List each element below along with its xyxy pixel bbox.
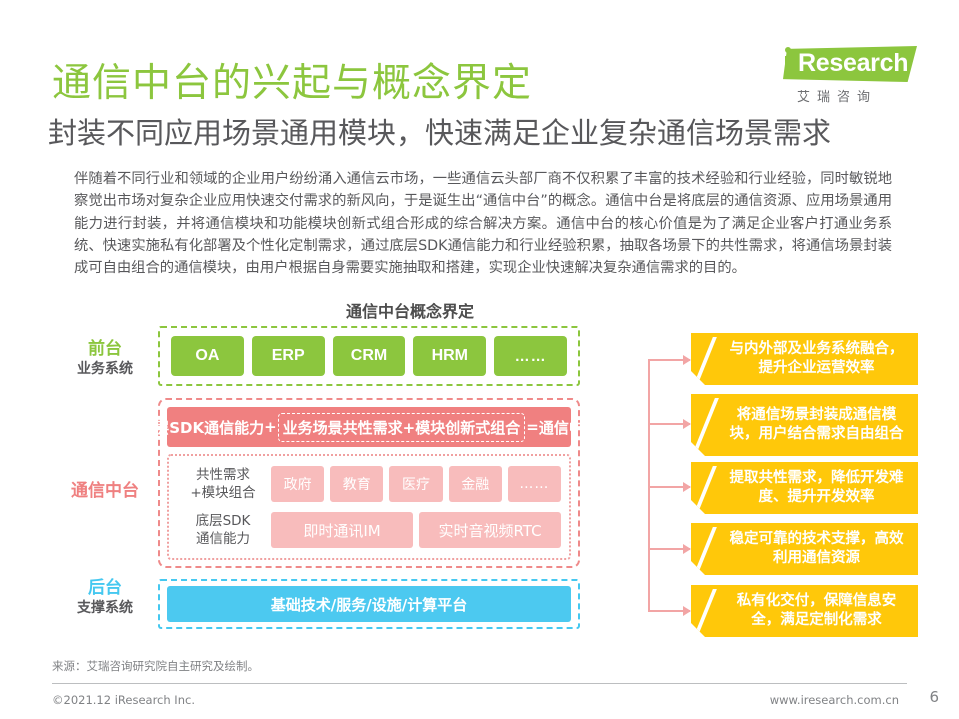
callout-slash-icon — [695, 337, 717, 381]
chip-front-more[interactable]: …… — [494, 336, 567, 376]
page-title: 通信中台的兴起与概念界定 — [52, 52, 532, 108]
copyright-text: ©2021.12 iResearch Inc. — [52, 693, 195, 707]
mid-row-common-needs: 共性需求+模块组合 政府 教育 医疗 金融 …… — [175, 462, 561, 506]
diagram-title: 通信中台概念界定 — [0, 298, 820, 322]
stage-back-sub: 支撑系统 — [60, 599, 150, 618]
arrow-to-callout-5 — [648, 610, 690, 612]
formula-part1: 底层SDK通信能力 — [139, 417, 264, 438]
arrow-to-callout-1 — [648, 359, 690, 361]
callout-4-text: 稳定可靠的技术支撑，高效利用通信资源 — [725, 530, 908, 568]
chip-oa[interactable]: OA — [171, 336, 244, 376]
logo-mark: Research — [767, 44, 917, 84]
chip-education[interactable]: 教育 — [330, 466, 383, 502]
chip-erp[interactable]: ERP — [252, 336, 325, 376]
page-subtitle: 封装不同应用场景通用模块，快速满足企业复杂通信场景需求 — [48, 110, 831, 152]
callout-slash-icon — [695, 527, 717, 571]
callout-5[interactable]: 私有化交付，保障信息安全，满足定制化需求 — [691, 585, 918, 637]
page-number: 6 — [929, 688, 939, 706]
callout-slash-icon — [695, 466, 717, 510]
stage-label-middle: 通信中台 — [60, 481, 150, 502]
callout-3-text: 提取共性需求，降低开发难度、提升开发效率 — [725, 469, 908, 507]
mid-row-sdk: 底层SDK通信能力 即时通讯IM 实时音视频RTC — [175, 508, 561, 552]
footer-divider — [52, 683, 907, 684]
chip-infrastructure[interactable]: 基础技术/服务/设施/计算平台 — [167, 586, 571, 622]
callout-3[interactable]: 提取共性需求，降低开发难度、提升开发效率 — [691, 462, 918, 514]
stage-label-back: 后台 支撑系统 — [60, 578, 150, 618]
connector-spine — [648, 359, 650, 611]
chip-finance[interactable]: 金融 — [449, 466, 502, 502]
stage-back-name: 后台 — [60, 578, 150, 599]
chip-government[interactable]: 政府 — [271, 466, 324, 502]
mid-row-2-items: 即时通讯IM 实时音视频RTC — [271, 512, 561, 548]
mid-row-1-items: 政府 教育 医疗 金融 …… — [271, 466, 561, 502]
callout-slash-icon — [695, 589, 717, 633]
chip-im[interactable]: 即时通讯IM — [271, 512, 413, 548]
website-url: www.iresearch.com.cn — [770, 693, 899, 707]
arrow-to-callout-4 — [648, 548, 690, 550]
stage-label-front: 前台 业务系统 — [60, 339, 150, 379]
logo-i-stem-icon — [785, 56, 791, 78]
logo-i-dot-icon — [785, 47, 791, 53]
callout-2[interactable]: 将通信场景封装成通信模块，用户结合需求自由组合 — [691, 394, 918, 456]
stage-front-name: 前台 — [60, 339, 150, 360]
logo-wordmark: Research — [798, 49, 908, 78]
formula-plus: + — [264, 418, 277, 436]
middle-inner-box: 共性需求+模块组合 政府 教育 医疗 金融 …… 底层SDK通信能力 — [167, 454, 571, 560]
chip-scene-more[interactable]: …… — [508, 466, 561, 502]
callout-4[interactable]: 稳定可靠的技术支撑，高效利用通信资源 — [691, 523, 918, 575]
source-note: 来源：艾瑞咨询研究院自主研究及绘制。 — [52, 658, 259, 674]
callout-1[interactable]: 与内外部及业务系统融合，提升企业运营效率 — [691, 333, 918, 385]
arrow-to-callout-2 — [648, 423, 690, 425]
chip-crm[interactable]: CRM — [333, 336, 406, 376]
stage-middle-name: 通信中台 — [60, 481, 150, 502]
callout-2-text: 将通信场景封装成通信模块，用户结合需求自由组合 — [725, 406, 908, 444]
back-band: 基础技术/服务/设施/计算平台 — [158, 579, 580, 629]
body-paragraph: 伴随着不同行业和领域的企业用户纷纷涌入通信云市场，一些通信云头部厂商不仅积累了丰… — [74, 168, 892, 279]
chip-rtc[interactable]: 实时音视频RTC — [419, 512, 561, 548]
mid-row-1-label: 共性需求+模块组合 — [175, 466, 271, 502]
formula-part2: 业务场景共性需求+模块创新式组合 — [278, 413, 526, 442]
formula-part3: 通信中台 — [539, 417, 599, 438]
mid-row-2-label: 底层SDK通信能力 — [175, 512, 271, 548]
arrow-to-callout-3 — [648, 486, 690, 488]
formula-equals: = — [526, 418, 539, 436]
slide: Research 艾瑞咨询 通信中台的兴起与概念界定 封装不同应用场景通用模块，… — [0, 0, 959, 719]
chip-hrm[interactable]: HRM — [413, 336, 486, 376]
middle-band: 底层SDK通信能力 + 业务场景共性需求+模块创新式组合 = 通信中台 共性需求… — [158, 398, 580, 568]
stage-front-sub: 业务系统 — [60, 360, 150, 379]
concept-diagram: 前台 业务系统 通信中台 后台 支撑系统 OA ERP CRM HRM …… 底… — [48, 326, 918, 636]
chip-medical[interactable]: 医疗 — [389, 466, 442, 502]
logo-chinese-name: 艾瑞咨询 — [797, 86, 877, 105]
callout-1-text: 与内外部及业务系统融合，提升企业运营效率 — [725, 340, 908, 378]
callout-5-text: 私有化交付，保障信息安全，满足定制化需求 — [725, 592, 908, 630]
callout-slash-icon — [693, 398, 719, 452]
front-band: OA ERP CRM HRM …… — [158, 326, 580, 386]
iresearch-logo: Research 艾瑞咨询 — [767, 44, 917, 106]
middle-header-formula: 底层SDK通信能力 + 业务场景共性需求+模块创新式组合 = 通信中台 — [167, 407, 571, 447]
